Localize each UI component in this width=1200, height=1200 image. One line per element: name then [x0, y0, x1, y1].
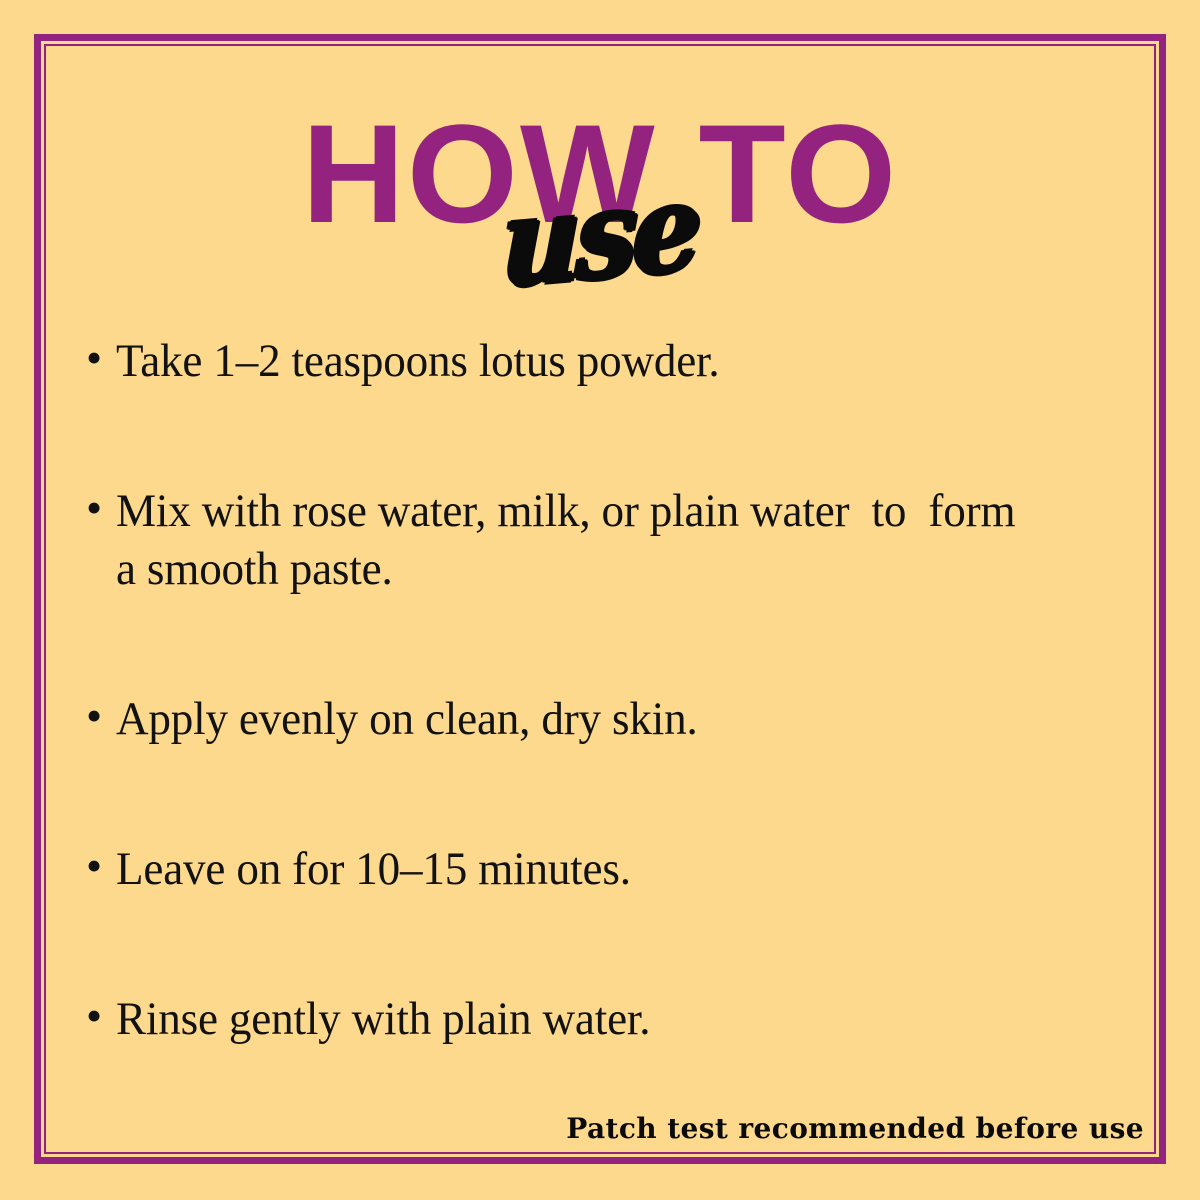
list-item: • Take 1–2 teaspoons lotus powder.: [86, 332, 1096, 390]
bullet-icon: •: [86, 840, 116, 892]
page-title: HOW TO use: [0, 104, 1200, 304]
bullet-icon: •: [86, 690, 116, 742]
step-text: Rinse gently with plain water.: [116, 990, 1057, 1048]
step-text: Mix with rose water, milk, or plain wate…: [116, 482, 1057, 598]
step-text: Apply evenly on clean, dry skin.: [116, 690, 1057, 748]
step-text: Leave on for 10–15 minutes.: [116, 840, 1057, 898]
how-to-use-poster: HOW TO use • Take 1–2 teaspoons lotus po…: [0, 0, 1200, 1200]
footer-disclaimer: Patch test recommended before use: [566, 1112, 1144, 1146]
list-item: • Rinse gently with plain water.: [86, 990, 1096, 1048]
bullet-icon: •: [86, 482, 116, 534]
step-text: Take 1–2 teaspoons lotus powder.: [116, 332, 1057, 390]
page-title-main: HOW TO: [0, 104, 1200, 244]
list-item: • Mix with rose water, milk, or plain wa…: [86, 482, 1096, 598]
list-item: • Apply evenly on clean, dry skin.: [86, 690, 1096, 748]
steps-list: • Take 1–2 teaspoons lotus powder. • Mix…: [86, 332, 1096, 1140]
list-item: • Leave on for 10–15 minutes.: [86, 840, 1096, 898]
bullet-icon: •: [86, 990, 116, 1042]
bullet-icon: •: [86, 332, 116, 384]
